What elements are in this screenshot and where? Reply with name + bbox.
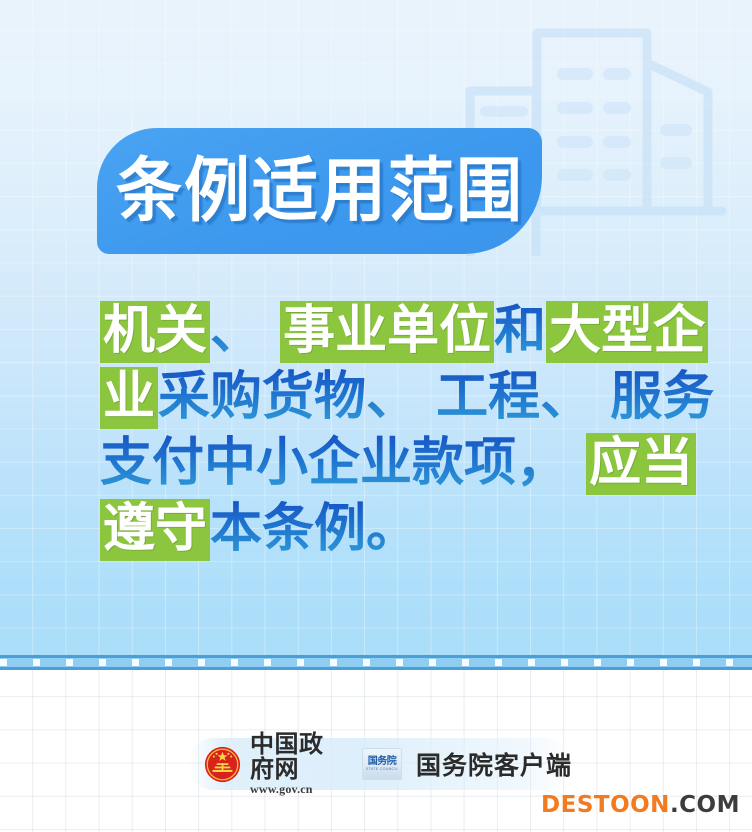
highlighted-phrase: 遵守 <box>100 499 210 561</box>
divider-dashes <box>0 659 752 666</box>
app-name-label: 国务院客户端 <box>416 746 572 782</box>
footer-branding-bar: 中国政府网 www.gov.cn 国务院 STATE COUNCIL 国务院客户… <box>188 738 572 790</box>
body-phrase: 支付中小企业款项， <box>100 433 586 493</box>
watermark-tld: .COM <box>670 792 740 818</box>
gov-site-name: 中国政府网 <box>250 732 338 782</box>
body-phrase: 和 <box>494 301 546 361</box>
highlighted-phrase: 大型企 <box>546 301 708 363</box>
divider-line-bottom <box>0 667 752 670</box>
copy-line-3: 支付中小企业款项， 应当 <box>100 430 680 496</box>
gov-site-block: 中国政府网 www.gov.cn <box>250 732 338 796</box>
app-icon-title: 国务院 <box>368 756 397 767</box>
highlighted-phrase: 应当 <box>586 433 696 495</box>
copy-line-2: 业采购货物、 工程、 服务 <box>100 364 680 430</box>
app-icon-subtitle: STATE COUNCIL <box>366 767 398 772</box>
copy-line-1: 机关、 事业单位和大型企 <box>100 298 680 364</box>
copy-line-4: 遵守本条例。 <box>100 496 680 562</box>
body-phrase: 采购货物、 工程、 服务 <box>158 367 714 427</box>
gov-site-url: www.gov.cn <box>250 782 338 796</box>
highlighted-phrase: 机关 <box>100 301 210 363</box>
poster-canvas: 条例适用范围 机关、 事业单位和大型企 业采购货物、 工程、 服务 支付中小企业… <box>0 0 752 832</box>
section-divider <box>0 655 752 671</box>
title-banner: 条例适用范围 <box>97 128 542 254</box>
body-copy: 机关、 事业单位和大型企 业采购货物、 工程、 服务 支付中小企业款项， 应当 … <box>100 298 680 562</box>
watermark-brand: DESTOON <box>541 792 670 818</box>
body-phrase: 本条例。 <box>210 499 418 559</box>
china-national-emblem-icon <box>204 746 241 783</box>
site-watermark: DESTOON.COM <box>541 792 740 818</box>
highlighted-phrase: 事业单位 <box>280 301 494 363</box>
body-phrase: 、 <box>210 301 280 361</box>
highlighted-phrase: 业 <box>100 367 158 429</box>
state-council-app-icon: 国务院 STATE COUNCIL <box>362 748 402 780</box>
page-title: 条例适用范围 <box>116 156 524 226</box>
